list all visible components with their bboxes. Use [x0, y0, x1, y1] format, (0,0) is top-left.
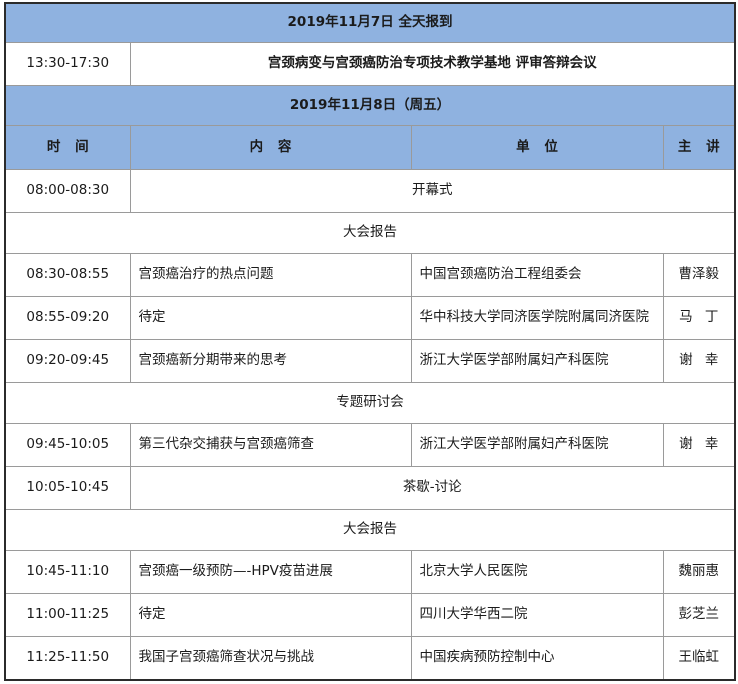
- agenda-section-label: 大会报告: [5, 510, 735, 551]
- agenda-row-time: 11:00-11:25: [5, 594, 130, 637]
- agenda-row-time: 10:05-10:45: [5, 467, 130, 510]
- agenda-row-speaker: 谢 幸: [663, 424, 735, 467]
- agenda-section-label: 大会报告: [5, 213, 735, 254]
- agenda-row-content: 第三代杂交捕获与宫颈癌筛查: [130, 424, 411, 467]
- agenda-row: 08:30-08:55宫颈癌治疗的热点问题中国宫颈癌防治工程组委会曹泽毅: [5, 254, 735, 297]
- agenda-row-time: 08:55-09:20: [5, 297, 130, 340]
- conference-agenda-table: 2019年11月7日 全天报到 13:30-17:30 宫颈病变与宫颈癌防治专项…: [4, 2, 736, 681]
- agenda-row-speaker: 曹泽毅: [663, 254, 735, 297]
- agenda-row-content: 待定: [130, 594, 411, 637]
- day1-session-row: 13:30-17:30 宫颈病变与宫颈癌防治专项技术教学基地 评审答辩会议: [5, 43, 735, 86]
- agenda-row-time: 08:00-08:30: [5, 170, 130, 213]
- agenda-section-row: 大会报告: [5, 510, 735, 551]
- column-header-unit: 单 位: [411, 126, 663, 170]
- day1-banner-row: 2019年11月7日 全天报到: [5, 3, 735, 43]
- agenda-row-unit: 四川大学华西二院: [411, 594, 663, 637]
- agenda-row-speaker: 魏丽惠: [663, 551, 735, 594]
- agenda-row: 09:45-10:05第三代杂交捕获与宫颈癌筛查浙江大学医学部附属妇产科医院谢 …: [5, 424, 735, 467]
- agenda-row-content: 宫颈癌新分期带来的思考: [130, 340, 411, 383]
- agenda-row-content: 宫颈癌治疗的热点问题: [130, 254, 411, 297]
- agenda-row-content: 宫颈癌一级预防—-HPV疫苗进展: [130, 551, 411, 594]
- agenda-section-label: 专题研讨会: [5, 383, 735, 424]
- agenda-row-time: 09:45-10:05: [5, 424, 130, 467]
- agenda-row: 11:00-11:25待定四川大学华西二院彭芝兰: [5, 594, 735, 637]
- day1-session-time: 13:30-17:30: [5, 43, 130, 86]
- agenda-row-unit: 浙江大学医学部附属妇产科医院: [411, 340, 663, 383]
- agenda-row-speaker: 王临虹: [663, 637, 735, 681]
- agenda-row: 09:20-09:45宫颈癌新分期带来的思考浙江大学医学部附属妇产科医院谢 幸: [5, 340, 735, 383]
- column-header-speaker: 主 讲: [663, 126, 735, 170]
- agenda-body: 2019年11月7日 全天报到 13:30-17:30 宫颈病变与宫颈癌防治专项…: [5, 3, 735, 680]
- agenda-row-time: 08:30-08:55: [5, 254, 130, 297]
- agenda-row-time: 11:25-11:50: [5, 637, 130, 681]
- day1-banner: 2019年11月7日 全天报到: [5, 3, 735, 43]
- agenda-merged-row: 08:00-08:30开幕式: [5, 170, 735, 213]
- agenda-row-time: 10:45-11:10: [5, 551, 130, 594]
- day2-banner-row: 2019年11月8日（周五）: [5, 86, 735, 126]
- agenda-section-row: 专题研讨会: [5, 383, 735, 424]
- day2-banner: 2019年11月8日（周五）: [5, 86, 735, 126]
- agenda-row: 11:25-11:50我国子宫颈癌筛查状况与挑战中国疾病预防控制中心王临虹: [5, 637, 735, 681]
- agenda-row-speaker: 谢 幸: [663, 340, 735, 383]
- agenda-row-unit: 浙江大学医学部附属妇产科医院: [411, 424, 663, 467]
- agenda-row-unit: 华中科技大学同济医学院附属同济医院: [411, 297, 663, 340]
- agenda-row-merged-label: 开幕式: [130, 170, 735, 213]
- column-header-content: 内 容: [130, 126, 411, 170]
- agenda-row-speaker: 彭芝兰: [663, 594, 735, 637]
- agenda-row-content: 我国子宫颈癌筛查状况与挑战: [130, 637, 411, 681]
- agenda-merged-row: 10:05-10:45茶歇-讨论: [5, 467, 735, 510]
- agenda-row-unit: 中国宫颈癌防治工程组委会: [411, 254, 663, 297]
- day1-session-title: 宫颈病变与宫颈癌防治专项技术教学基地 评审答辩会议: [130, 43, 735, 86]
- agenda-row: 08:55-09:20待定华中科技大学同济医学院附属同济医院马 丁: [5, 297, 735, 340]
- column-header-row: 时 间 内 容 单 位 主 讲: [5, 126, 735, 170]
- agenda-page: 2019年11月7日 全天报到 13:30-17:30 宫颈病变与宫颈癌防治专项…: [0, 0, 738, 684]
- agenda-row-unit: 中国疾病预防控制中心: [411, 637, 663, 681]
- agenda-row: 10:45-11:10宫颈癌一级预防—-HPV疫苗进展北京大学人民医院魏丽惠: [5, 551, 735, 594]
- agenda-section-row: 大会报告: [5, 213, 735, 254]
- agenda-row-unit: 北京大学人民医院: [411, 551, 663, 594]
- agenda-row-content: 待定: [130, 297, 411, 340]
- agenda-row-merged-label: 茶歇-讨论: [130, 467, 735, 510]
- column-header-time: 时 间: [5, 126, 130, 170]
- agenda-row-time: 09:20-09:45: [5, 340, 130, 383]
- agenda-row-speaker: 马 丁: [663, 297, 735, 340]
